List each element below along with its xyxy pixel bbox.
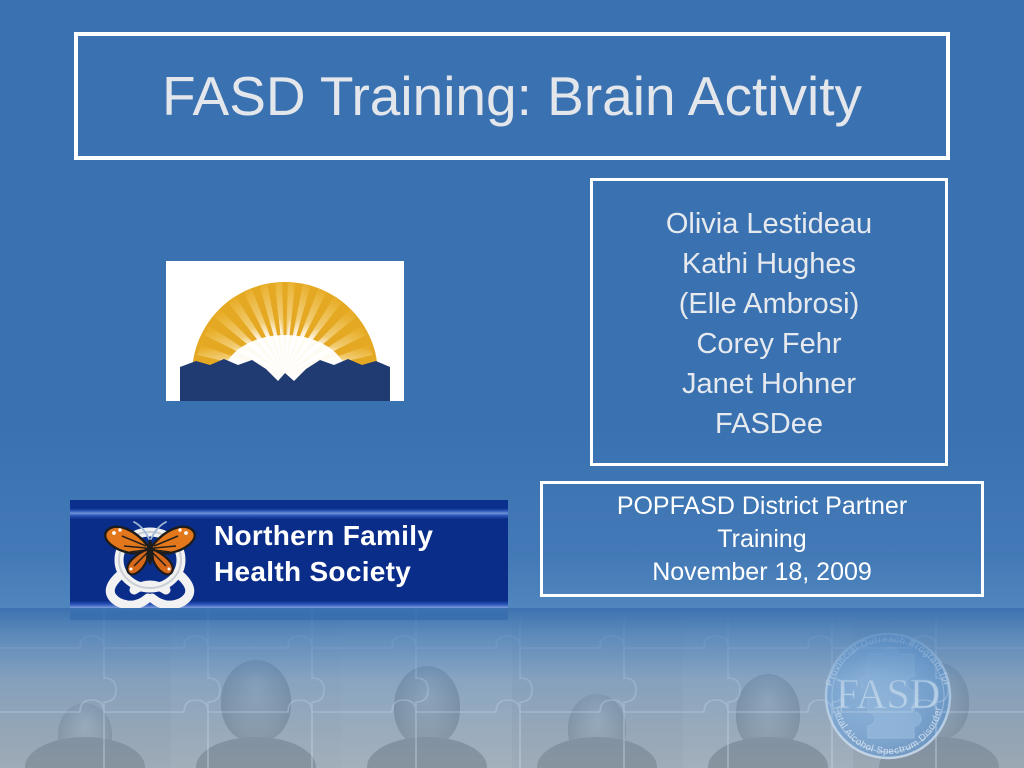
training-info-box: POPFASD District Partner Training Novemb…: [540, 481, 984, 597]
children-faces-puzzle-band: [0, 608, 1024, 768]
presenter-names-box: Olivia Lestideau Kathi Hughes (Elle Ambr…: [590, 178, 948, 466]
training-title-line: POPFASD District Partner: [617, 490, 907, 523]
puzzle-piece-overlay-icon: [0, 608, 1024, 768]
training-date: November 18, 2009: [652, 556, 872, 589]
northern-family-health-society-logo: Northern Family Health Society: [70, 500, 508, 620]
presenter-name: FASDee: [715, 404, 823, 444]
sunrise-icon: [166, 261, 404, 401]
presenter-name: Olivia Lestideau: [666, 204, 872, 244]
sunrise-over-mountains-logo: [166, 261, 404, 401]
nfhs-logo-text: Northern Family Health Society: [214, 518, 494, 590]
presentation-slide: FASD Training: Brain Activity Olivia Les…: [0, 0, 1024, 768]
presenter-name: (Elle Ambrosi): [679, 284, 860, 324]
butterfly-rope-knot-icon: [96, 516, 208, 610]
presenter-name: Corey Fehr: [696, 324, 841, 364]
training-title-line: Training: [717, 523, 806, 556]
nfhs-logo-line2: Health Society: [214, 554, 494, 590]
nfhs-logo-line1: Northern Family: [214, 518, 494, 554]
presenter-name: Janet Hohner: [682, 364, 856, 404]
page-title: FASD Training: Brain Activity: [162, 69, 862, 124]
slide-title-box: FASD Training: Brain Activity: [74, 32, 950, 160]
presenter-name: Kathi Hughes: [682, 244, 856, 284]
